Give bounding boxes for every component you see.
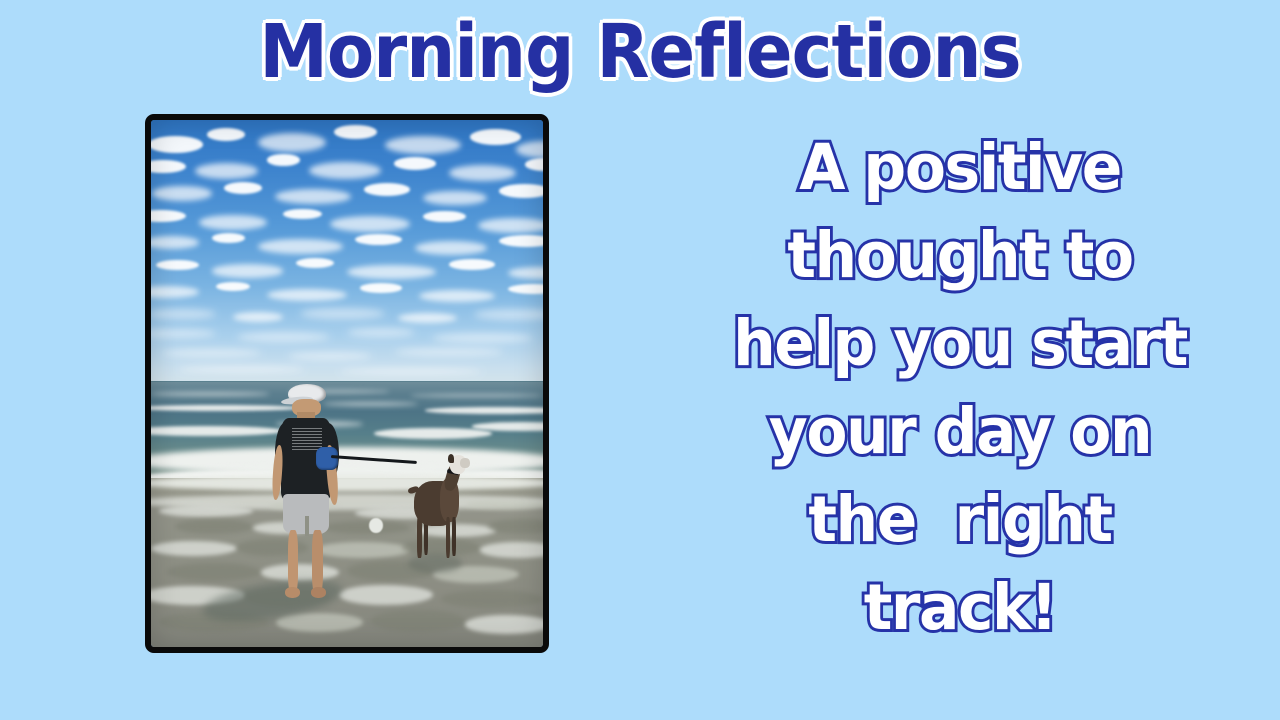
man-leg-left <box>288 530 298 594</box>
quote-line-2: thought to <box>656 212 1264 300</box>
dog-figure <box>406 455 473 563</box>
beach-photo-image <box>151 120 543 647</box>
quote-line-5: the right <box>656 476 1264 564</box>
slide-canvas: Morning Reflections <box>0 0 1280 720</box>
quote-line-4: your day on <box>656 388 1264 476</box>
dog-muzzle <box>460 458 469 468</box>
ball-object <box>369 518 383 533</box>
dog-ear <box>448 454 455 464</box>
man-figure <box>261 384 355 605</box>
dog-front-leg-back <box>452 517 456 556</box>
shorts-gap <box>305 516 309 536</box>
man-foot-right <box>311 587 326 598</box>
quote-text-block: A positive thought to help you start you… <box>640 124 1280 652</box>
page-title: Morning Reflections <box>45 8 1235 96</box>
beach-photo-frame <box>145 114 549 653</box>
quote-line-3: help you start <box>656 300 1264 388</box>
dog-front-leg-front <box>446 517 451 558</box>
man-foot-left <box>285 587 300 598</box>
quote-line-1: A positive <box>656 124 1264 212</box>
man-leg-right <box>312 530 322 594</box>
quote-line-6: track! <box>656 564 1264 652</box>
